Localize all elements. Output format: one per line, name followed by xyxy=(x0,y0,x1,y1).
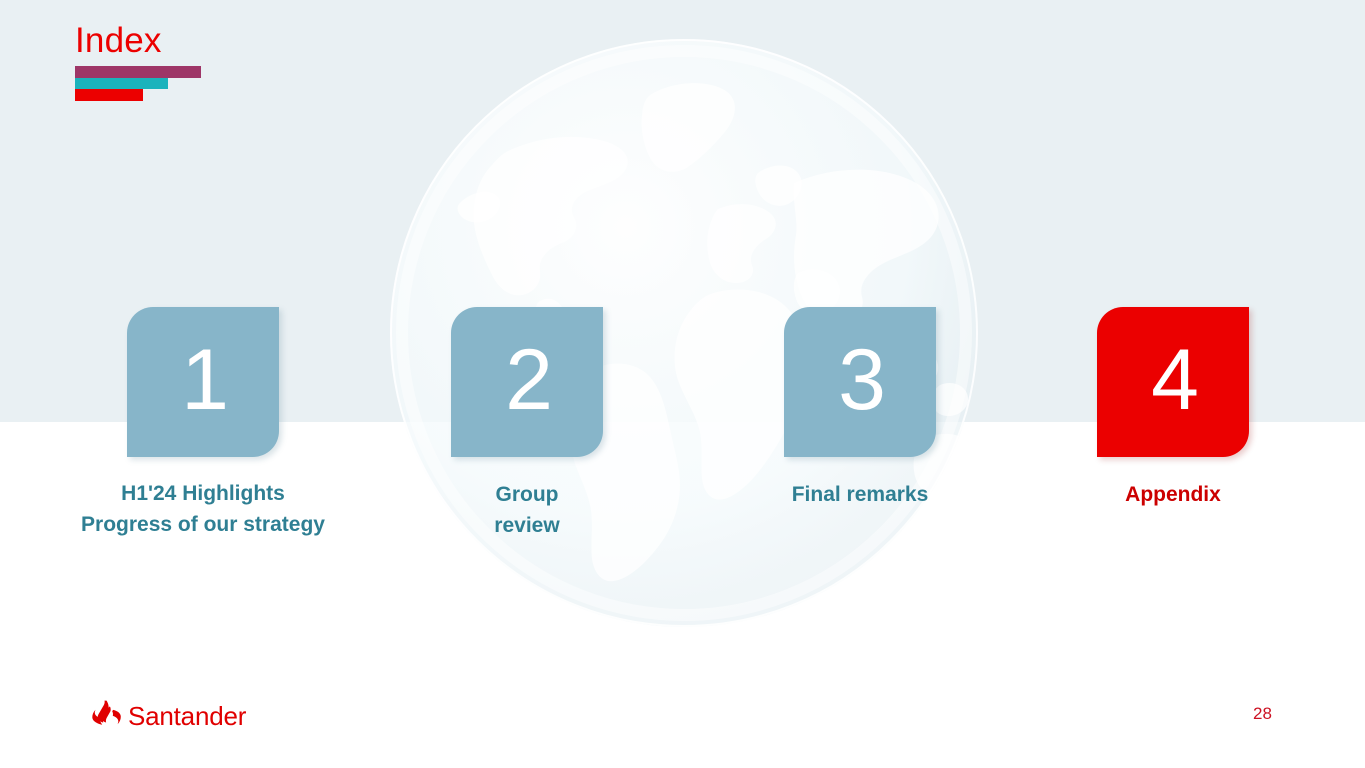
section-label-3: Final remarks xyxy=(735,479,985,510)
section-tile-4[interactable]: 4 xyxy=(1097,307,1249,457)
section-number-2: 2 xyxy=(505,337,553,423)
slide: Index 1 H1'24 Highlights Progress of our… xyxy=(0,0,1365,768)
section-number-1: 1 xyxy=(181,337,229,423)
section-tile-2[interactable]: 2 xyxy=(451,307,603,457)
section-label-2: Group review xyxy=(402,479,652,541)
page-title: Index xyxy=(75,20,162,62)
teal-bar xyxy=(75,78,168,89)
section-label-4: Appendix xyxy=(1048,479,1298,510)
section-item-2[interactable]: 2 Group review xyxy=(402,307,652,541)
page-number: 28 xyxy=(1253,704,1272,724)
santander-wordmark: Santander xyxy=(128,703,246,729)
section-item-4[interactable]: 4 Appendix xyxy=(1048,307,1298,510)
section-tile-3[interactable]: 3 xyxy=(784,307,936,457)
section-number-4: 4 xyxy=(1151,337,1199,423)
section-tile-1[interactable]: 1 xyxy=(127,307,279,457)
section-label-1: H1'24 Highlights Progress of our strateg… xyxy=(78,478,328,540)
santander-logo: Santander xyxy=(92,700,246,732)
purple-bar xyxy=(75,66,201,78)
santander-flame-icon xyxy=(92,700,121,732)
section-item-3[interactable]: 3 Final remarks xyxy=(735,307,985,510)
section-number-3: 3 xyxy=(838,337,886,423)
accent-bars xyxy=(75,66,201,101)
section-item-1[interactable]: 1 H1'24 Highlights Progress of our strat… xyxy=(78,307,328,540)
red-bar xyxy=(75,89,143,101)
